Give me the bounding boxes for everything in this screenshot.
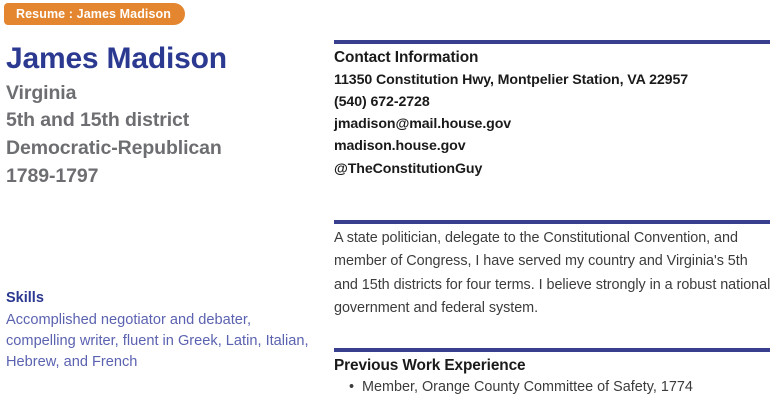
summary-text: A state politician, delegate to the Cons… bbox=[334, 227, 772, 320]
contact-address: 11350 Constitution Hwy, Montpelier Stati… bbox=[334, 69, 770, 91]
candidate-years: 1789-1797 bbox=[6, 163, 316, 191]
candidate-state: Virginia bbox=[6, 80, 316, 108]
experience-heading: Previous Work Experience bbox=[334, 355, 770, 377]
candidate-district: 5th and 15th district bbox=[6, 107, 316, 135]
contact-heading: Contact Information bbox=[334, 47, 770, 69]
bullet-icon: • bbox=[349, 377, 354, 399]
skills-section: Skills Accomplished negotiator and debat… bbox=[6, 289, 318, 373]
candidate-identity-block: James Madison Virginia 5th and 15th dist… bbox=[6, 42, 316, 190]
contact-email[interactable]: jmadison@mail.house.gov bbox=[334, 113, 770, 135]
page-title: James Madison bbox=[6, 42, 316, 76]
resume-page: Resume : James Madison James Madison Vir… bbox=[0, 0, 780, 403]
list-item: • Member, Orange County Committee of Saf… bbox=[362, 377, 770, 399]
contact-website[interactable]: madison.house.gov bbox=[334, 135, 770, 157]
contact-phone: (540) 672-2728 bbox=[334, 91, 770, 113]
skills-body: Accomplished negotiator and debater, com… bbox=[6, 310, 318, 374]
candidate-party: Democratic-Republican bbox=[6, 135, 316, 163]
experience-list: • Member, Orange County Committee of Saf… bbox=[334, 377, 770, 399]
experience-section: Previous Work Experience • Member, Orang… bbox=[334, 348, 770, 398]
summary-section: A state politician, delegate to the Cons… bbox=[334, 220, 772, 320]
contact-social-handle[interactable]: @TheConstitutionGuy bbox=[334, 158, 770, 180]
list-item-label: Member, Orange County Committee of Safet… bbox=[362, 379, 693, 395]
contact-section: Contact Information 11350 Constitution H… bbox=[334, 40, 770, 180]
skills-heading: Skills bbox=[6, 289, 318, 309]
resume-title-badge: Resume : James Madison bbox=[4, 3, 185, 25]
resume-title-badge-label: Resume : James Madison bbox=[16, 7, 171, 21]
